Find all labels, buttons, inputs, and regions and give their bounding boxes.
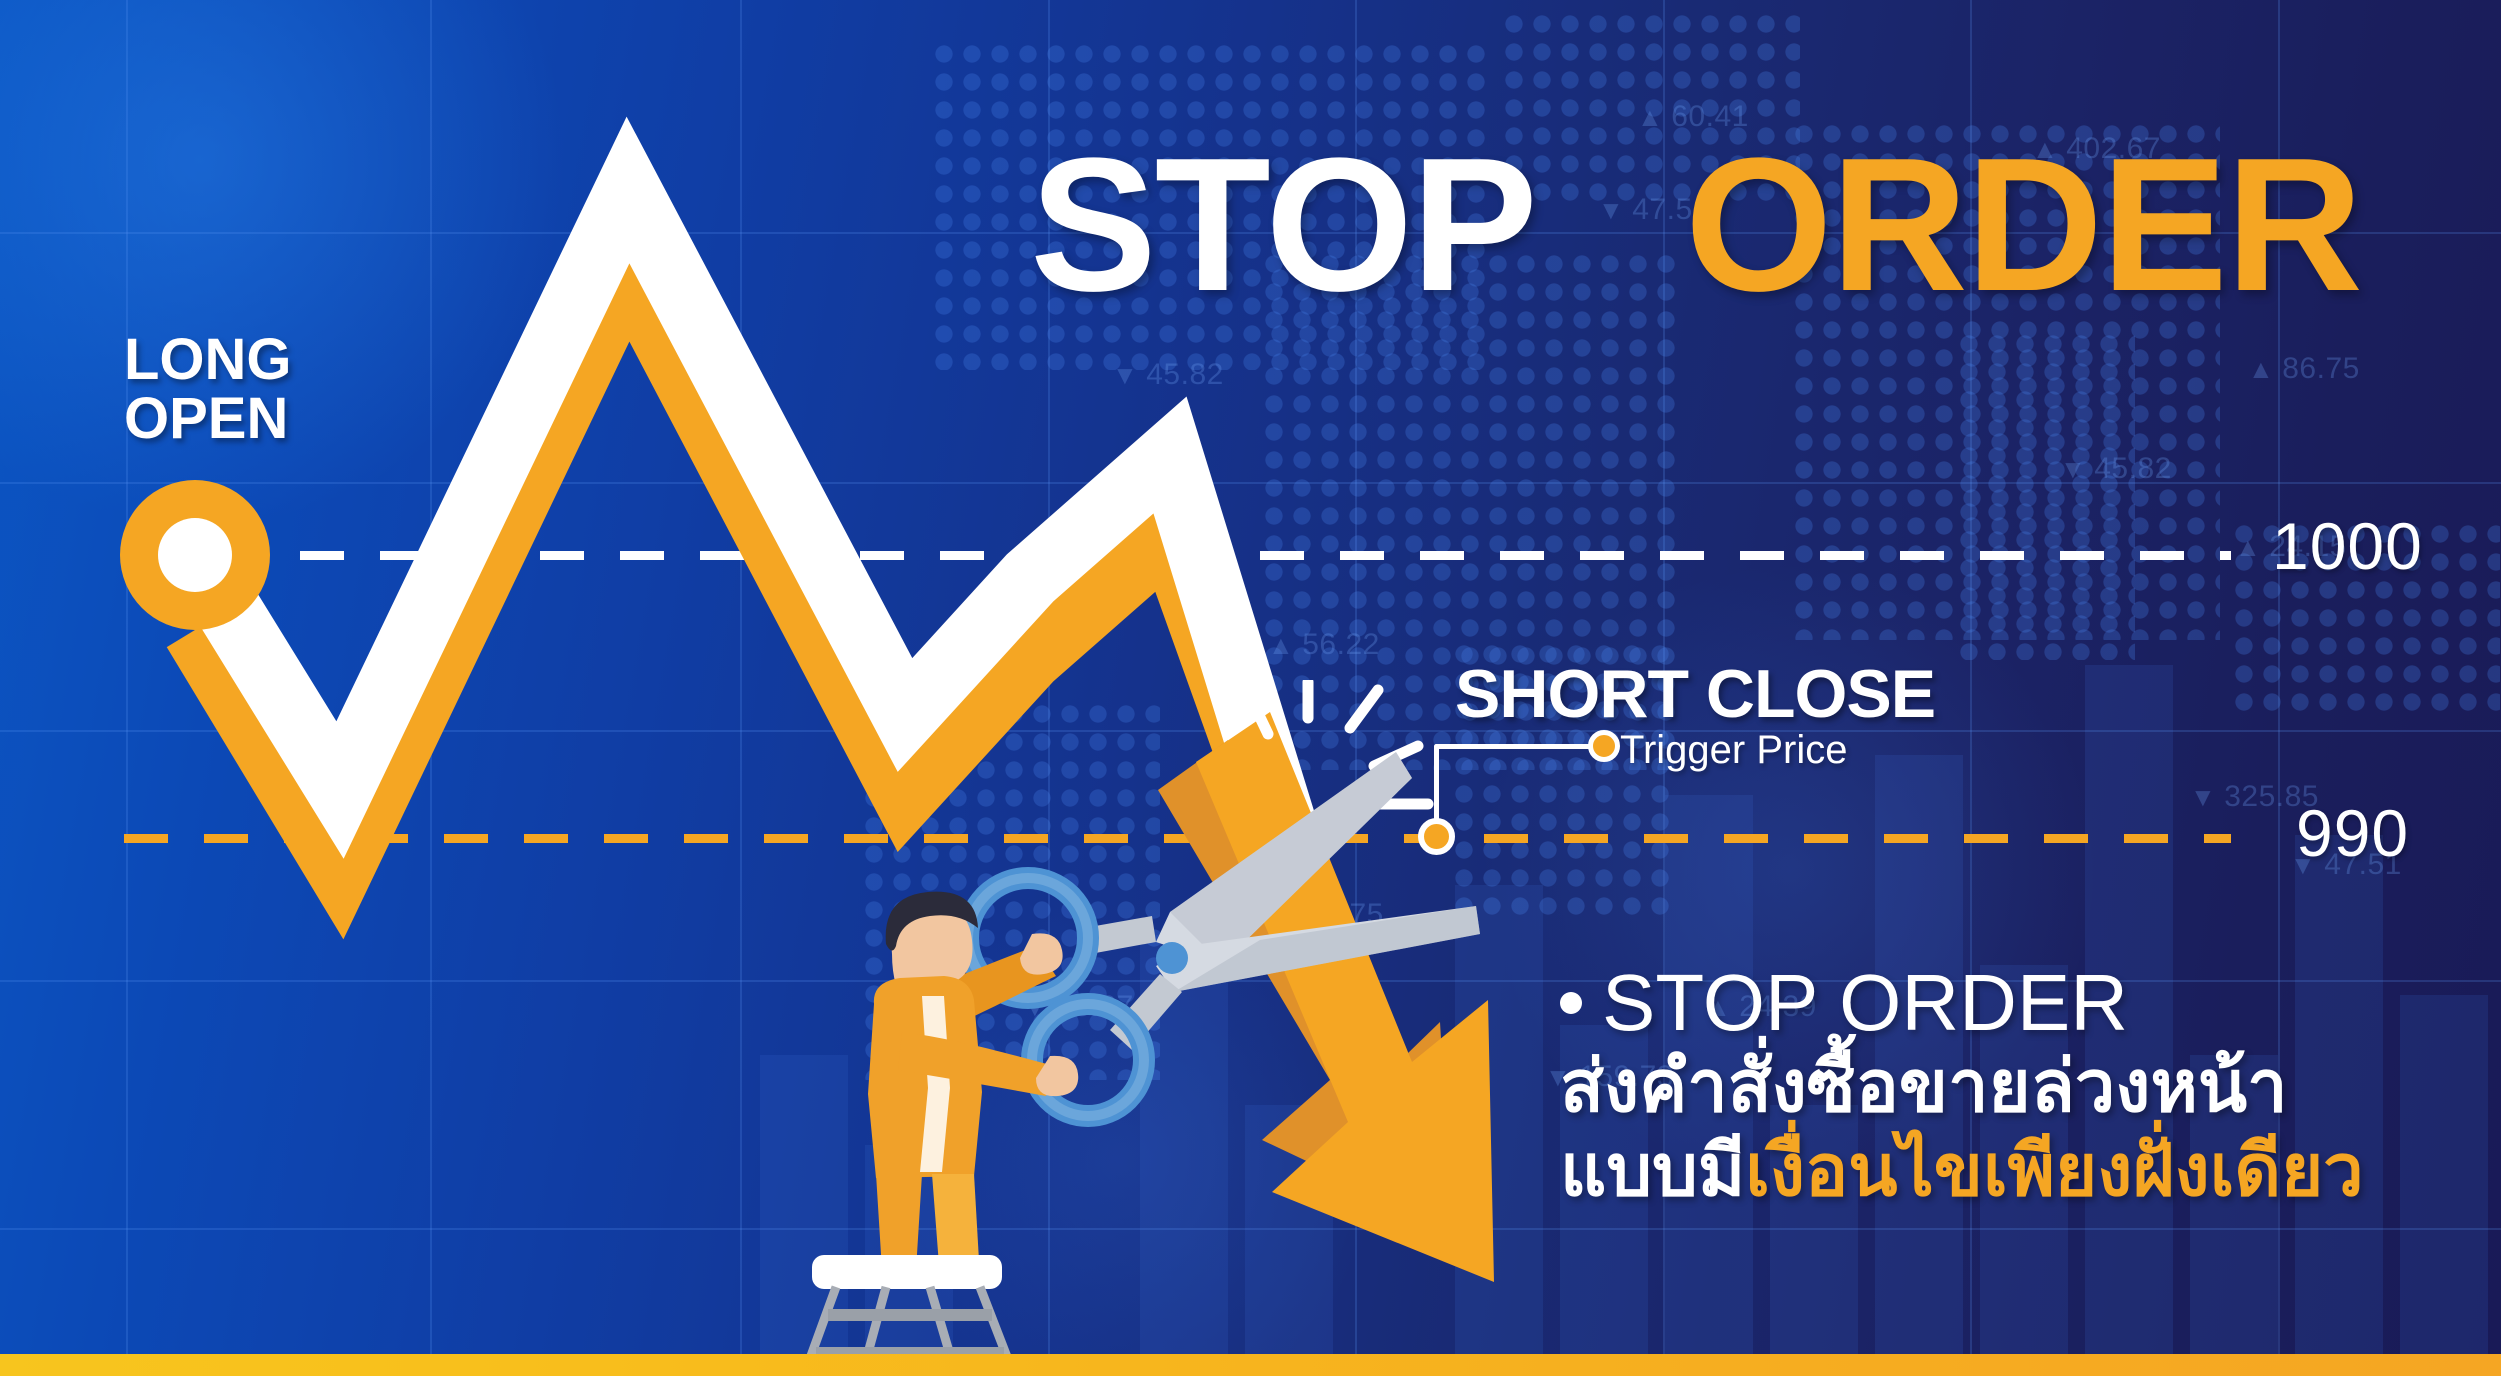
title-word-order: ORDER <box>1685 119 2361 331</box>
trigger-callout-dot <box>1588 730 1620 762</box>
bottom-accent-bar <box>0 1354 2501 1376</box>
page-title: STOP ORDER <box>1030 130 2361 320</box>
long-open-marker-core <box>158 518 232 592</box>
description-block: STOP ORDER ส่งคำสั่งซื้อขายล่วงหน้า แบบม… <box>1560 960 2460 1213</box>
short-close-label: SHORT CLOSE <box>1455 655 1935 733</box>
description-heading: STOP ORDER <box>1560 960 2460 1046</box>
ladder-step-upper <box>828 1309 992 1321</box>
long-open-label-line1: LONG <box>124 330 292 389</box>
description-thai-line-1: ส่งคำสั่งซื้อขายล่วงหน้า <box>1560 1046 2460 1130</box>
thai-highlight-text: เงื่อนไขเพียงฝั่งเดียว <box>1745 1131 2363 1211</box>
long-open-label-line2: OPEN <box>124 389 292 448</box>
person-cutting-icon <box>840 880 1170 1280</box>
thai-plain-text: แบบมี <box>1560 1131 1745 1211</box>
long-open-marker[interactable] <box>120 480 270 630</box>
description-thai-line-2: แบบมีเงื่อนไขเพียงฝั่งเดียว <box>1560 1130 2460 1214</box>
trigger-price-marker[interactable] <box>1418 818 1455 855</box>
trigger-callout-horizontal <box>1434 744 1604 749</box>
trigger-price-label: Trigger Price <box>1620 728 1847 773</box>
infographic-canvas: ▲60.41▼47.51▲402.67▼45.82▲285.67▲86.75▼4… <box>0 0 2501 1376</box>
title-word-stop: STOP <box>1030 119 1532 331</box>
person-hand-lower <box>1036 1056 1078 1096</box>
long-open-label: LONG OPEN <box>124 330 292 448</box>
person-hand-upper <box>1020 933 1063 974</box>
ladder-platform <box>812 1255 1002 1289</box>
bullet-point-icon <box>1560 992 1582 1014</box>
description-heading-text: STOP ORDER <box>1602 958 2128 1047</box>
